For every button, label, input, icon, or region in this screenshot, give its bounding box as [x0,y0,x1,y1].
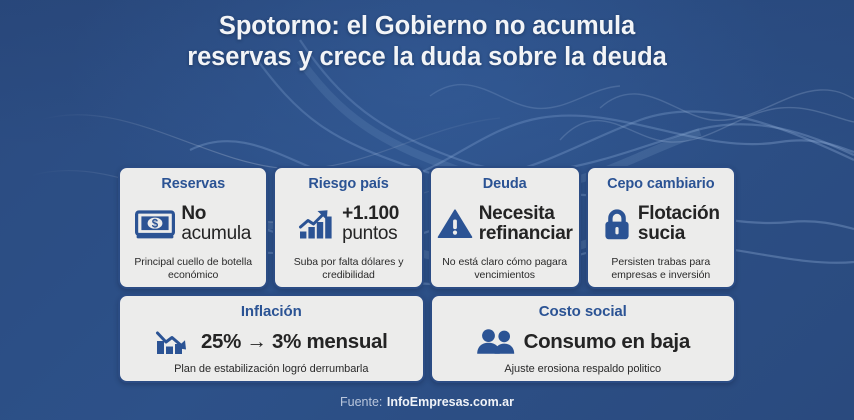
card-value-primary-deuda: Necesita [479,204,573,225]
card-grid: Reservas $ No acumula Principal cuello d… [118,166,736,383]
svg-text:$: $ [152,218,159,230]
card-body-deuda: Necesita refinanciar [437,193,573,256]
card-body-riesgo-pais: +1.100 puntos [281,193,415,256]
card-value-costo-social: Consumo en baja [524,332,690,353]
card-value-primary-reservas: No [181,204,251,225]
card-body-costo-social: Consumo en baja [438,321,729,363]
card-value-secondary-deuda: refinanciar [479,224,573,245]
card-note-inflacion: Plan de estabilización logró derrumbarla [174,363,368,376]
card-value-secondary-reservas: acumula [181,224,251,245]
page-title-line-1: Spotorno: el Gobierno no acumula [0,11,854,42]
card-costo-social[interactable]: Costo social Consumo en baja Ajuste eros… [430,294,737,383]
header: Spotorno: el Gobierno no acumula reserva… [0,0,854,73]
card-value-secondary-cepo-cambiario: sucia [638,224,720,245]
banknote-dollar-icon: $ [135,209,175,240]
card-deuda[interactable]: Deuda Necesita refinanciar No está claro… [429,166,581,289]
card-reservas[interactable]: Reservas $ No acumula Principal cuello d… [118,166,268,289]
card-body-cepo-cambiario: Flotación sucia [594,193,728,256]
card-value-deuda: Necesita refinanciar [479,204,573,245]
card-value-cepo-cambiario: Flotación sucia [638,204,720,245]
card-note-cepo-cambiario: Persisten trabas para empresas e inversi… [594,256,728,281]
card-row-top: Reservas $ No acumula Principal cuello d… [118,166,736,289]
card-title-costo-social: Costo social [539,303,627,321]
card-title-cepo-cambiario: Cepo cambiario [607,175,714,193]
card-note-costo-social: Ajuste erosiona respaldo politico [504,363,661,376]
card-riesgo-pais[interactable]: Riesgo país +1.100 puntos Suba por falta… [273,166,423,289]
card-title-reservas: Reservas [161,175,225,193]
card-note-deuda: No está claro cómo pagara vencimientos [437,256,573,281]
card-inflacion[interactable]: Inflación 25% → 3% mensual Plan de estab… [118,294,425,383]
bar-chart-down-arrow-icon [155,328,193,356]
two-people-icon [476,328,516,355]
card-value-inflacion: 25% → 3% mensual [201,332,388,353]
card-value-primary-riesgo-pais: +1.100 [342,204,399,225]
card-row-bottom: Inflación 25% → 3% mensual Plan de estab… [118,294,736,383]
card-value-primary-cepo-cambiario: Flotación [638,204,720,225]
warning-triangle-icon [437,208,473,240]
bar-chart-up-arrow-icon [298,208,336,240]
card-cepo-cambiario[interactable]: Cepo cambiario Flotación sucia Persisten… [586,166,736,289]
card-title-deuda: Deuda [483,175,527,193]
card-value-secondary-riesgo-pais: puntos [342,224,399,245]
padlock-icon [602,208,632,241]
card-note-riesgo-pais: Suba por falta dólares y credibilidad [281,256,415,281]
card-body-inflacion: 25% → 3% mensual [126,321,417,363]
card-value-riesgo-pais: +1.100 puntos [342,204,399,245]
card-title-inflacion: Inflación [241,303,302,321]
footer-source-label: Fuente: [340,395,382,409]
card-value-reservas: No acumula [181,204,251,245]
card-note-reservas: Principal cuello de botella económico [126,256,260,281]
footer: Fuente: InfoEmpresas.com.ar [0,393,854,411]
card-title-riesgo-pais: Riesgo país [308,175,388,193]
card-body-reservas: $ No acumula [126,193,260,256]
footer-source-name: InfoEmpresas.com.ar [387,395,514,409]
page-title-line-2: reservas y crece la duda sobre la deuda [0,42,854,73]
